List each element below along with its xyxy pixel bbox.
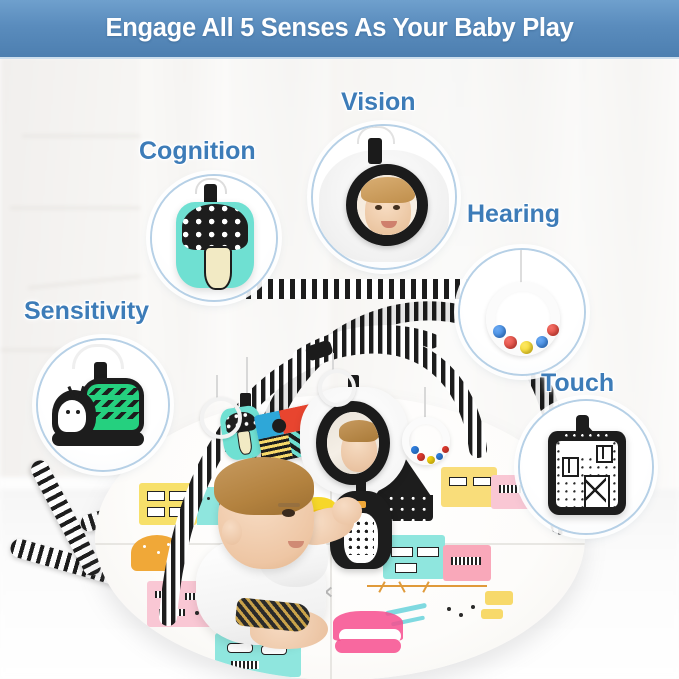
callout-hearing[interactable]	[458, 248, 586, 376]
infographic-canvas: Cognition Vision Hearin	[0, 0, 679, 679]
baby-safe-mirror	[346, 164, 428, 246]
header-banner: Engage All 5 Senses As Your Baby Play	[0, 0, 679, 59]
gym-mirror	[316, 401, 390, 485]
baby-ear	[222, 519, 242, 545]
callout-touch[interactable]	[518, 399, 654, 535]
baby-eye	[282, 509, 295, 517]
label-vision: Vision	[341, 88, 416, 117]
label-touch: Touch	[541, 369, 614, 398]
label-sensitivity: Sensitivity	[24, 297, 149, 326]
rattle-bead	[493, 325, 506, 338]
gym-rattle-ring	[402, 417, 450, 465]
mushroom-stem	[204, 246, 232, 290]
mushroom-cap	[182, 204, 248, 250]
rattle-bead	[504, 336, 517, 349]
label-cognition: Cognition	[139, 137, 256, 166]
callout-sensitivity[interactable]	[36, 338, 170, 472]
page-title: Engage All 5 Senses As Your Baby Play	[106, 14, 574, 43]
mirror-strap-icon	[368, 138, 382, 164]
callout-vision[interactable]	[311, 124, 457, 270]
house-plush-toy	[542, 413, 632, 519]
snail-head	[52, 390, 96, 438]
rattle-bead	[547, 324, 559, 336]
rattle-bead	[520, 341, 533, 354]
gym-hanging-ring	[200, 397, 242, 439]
rattle-bead	[536, 336, 548, 348]
rattle-ring	[486, 282, 560, 356]
baby-hand	[332, 497, 362, 525]
gym-hanging-ring-top	[318, 369, 356, 407]
callout-cognition[interactable]	[150, 174, 278, 302]
label-hearing: Hearing	[467, 200, 560, 229]
baby-eyebrow	[278, 503, 300, 507]
